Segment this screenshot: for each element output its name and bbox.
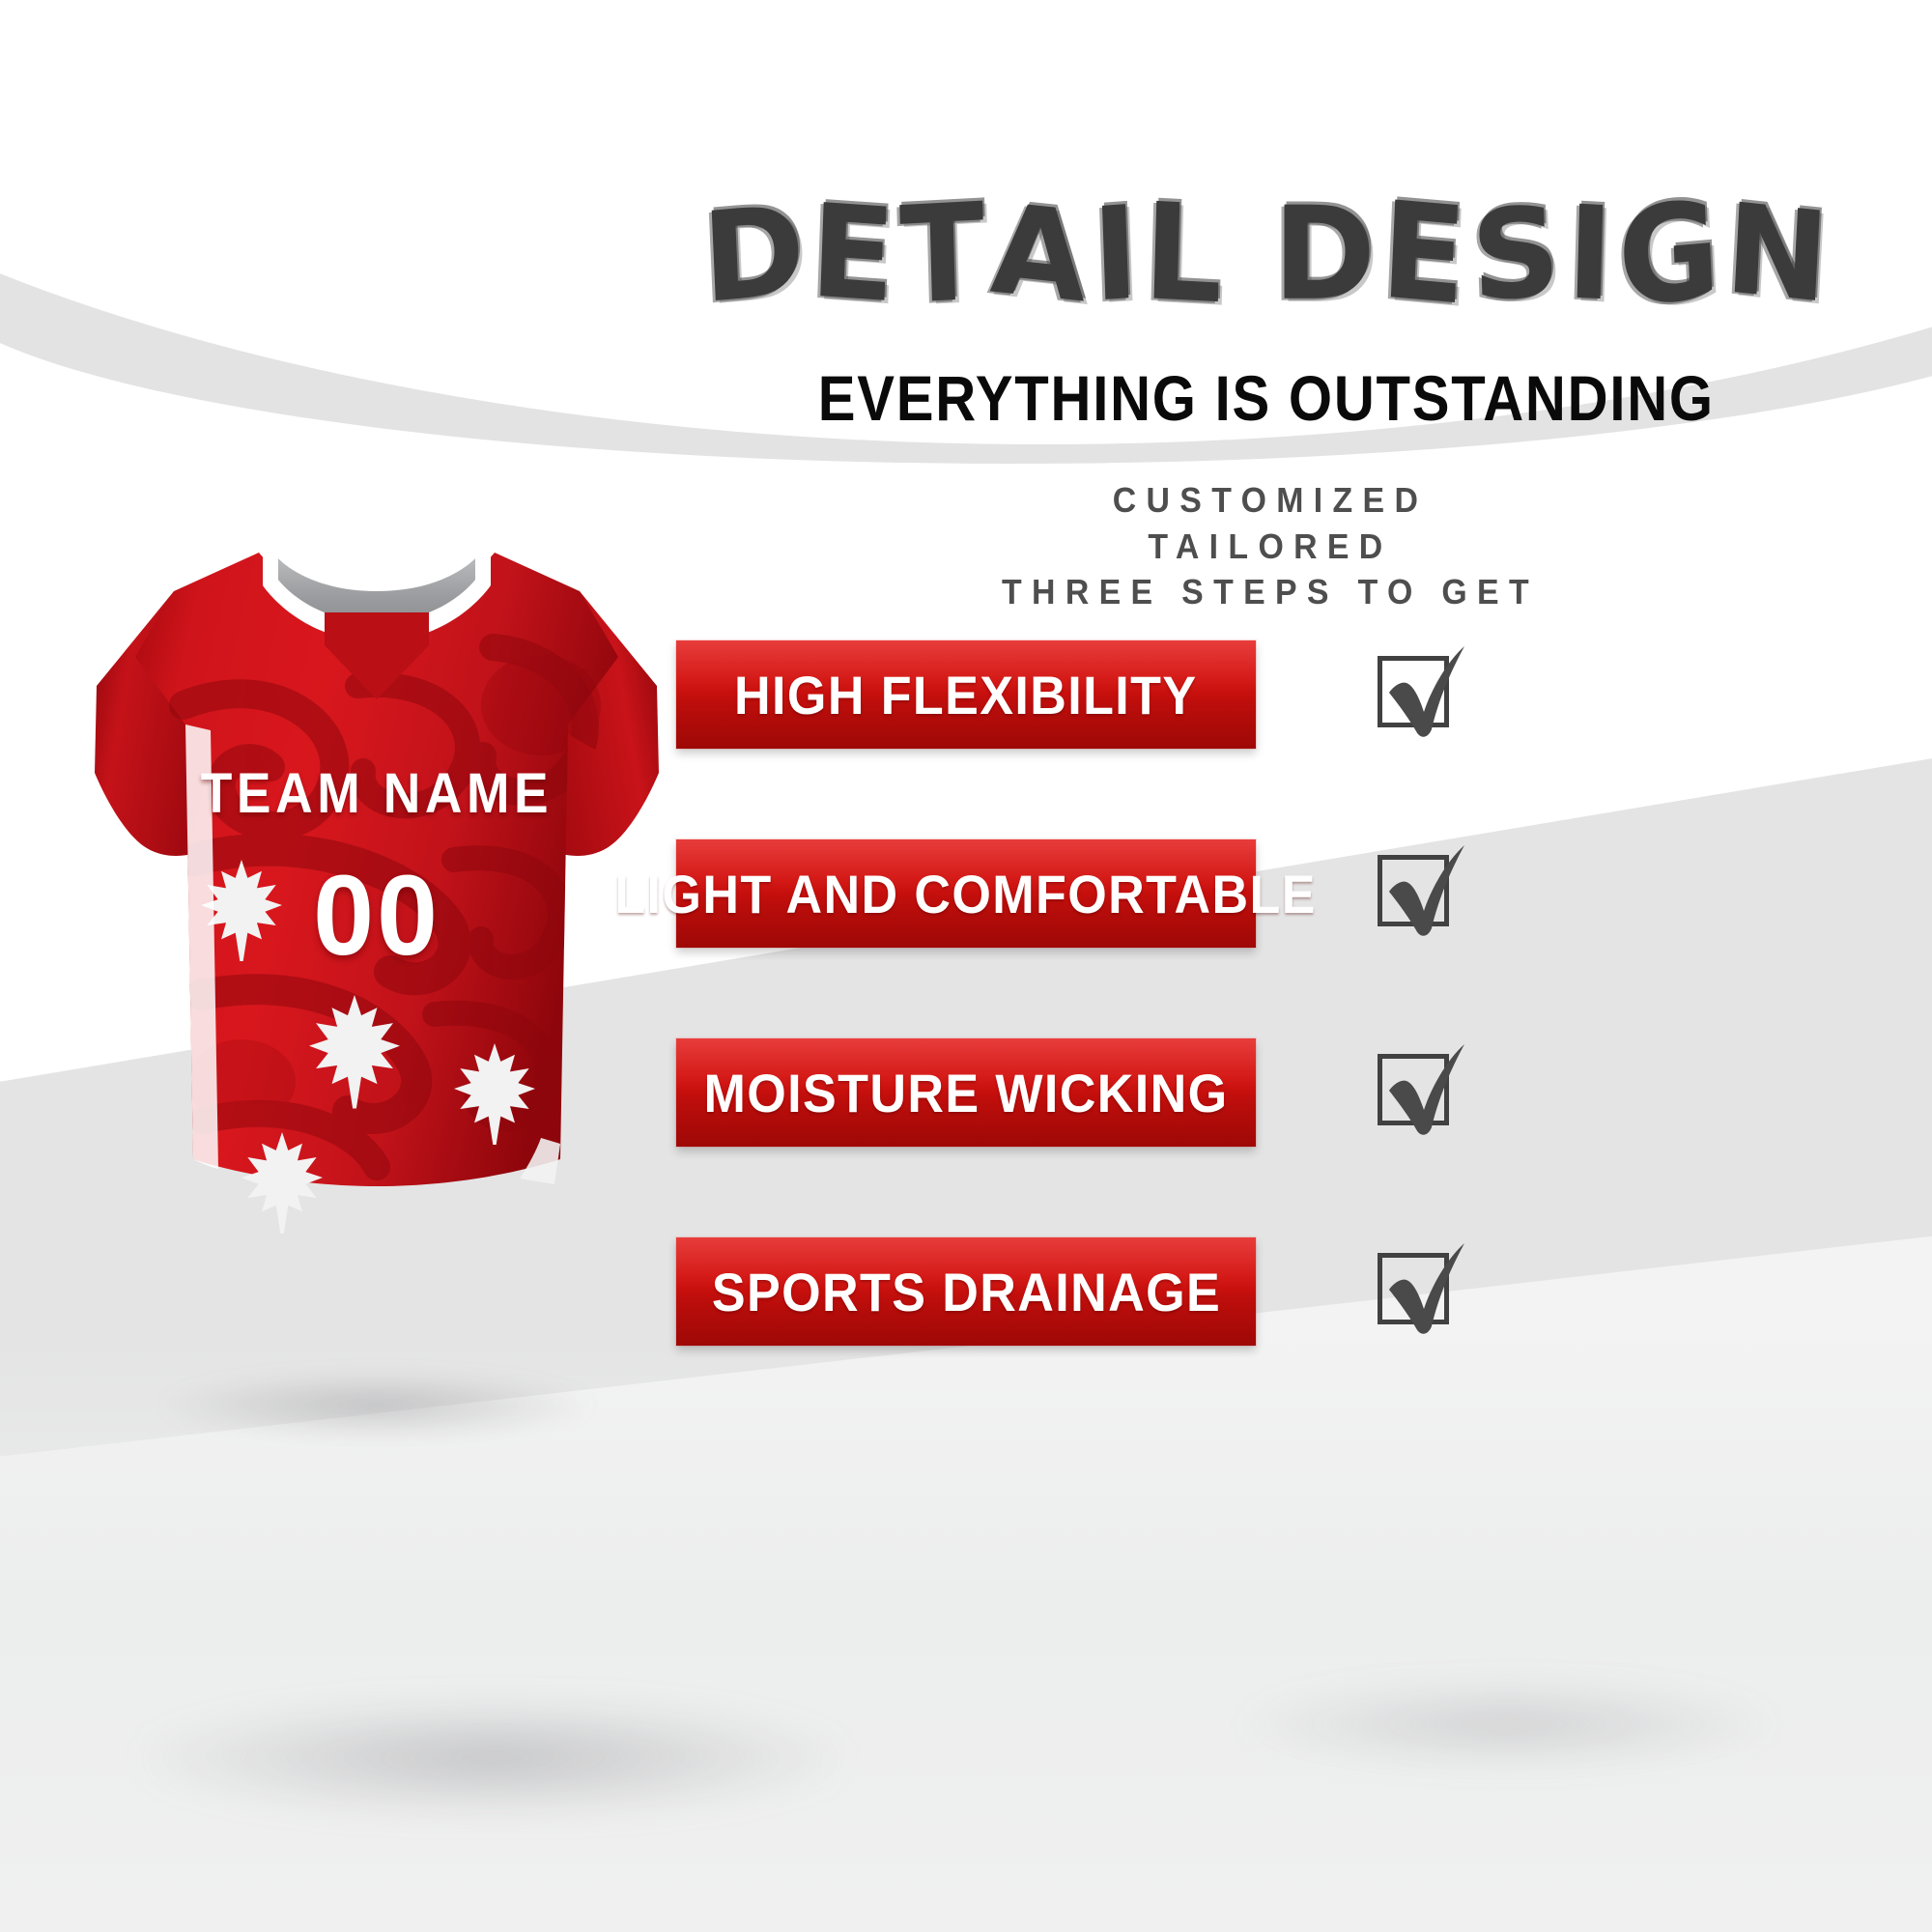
page-subtitle: EVERYTHING IS OUTSTANDING <box>675 361 1798 435</box>
check-mark-icon <box>1364 637 1480 753</box>
floor-shadow-right <box>1236 1681 1777 1768</box>
headline-block: DETAIL DESIGN EVERYTHING IS OUTSTANDING … <box>599 193 1874 615</box>
page-title-wrap: DETAIL DESIGN <box>599 193 1874 317</box>
page-title: DETAIL DESIGN <box>704 193 1837 317</box>
jersey-illustration <box>39 541 715 1507</box>
feature-banner-3[interactable]: MOISTURE WICKING <box>676 1038 1256 1147</box>
checkbox-checked-icon[interactable] <box>1364 836 1480 952</box>
product-jersey: TEAM NAME 00 <box>39 541 715 1507</box>
feature-label: HIGH FLEXIBILITY <box>734 664 1197 726</box>
feature-row: SPORTS DRAINAGE <box>676 1220 1855 1363</box>
feature-label: LIGHT AND COMFORTABLE <box>615 863 1318 925</box>
feature-banner-4[interactable]: SPORTS DRAINAGE <box>676 1237 1256 1346</box>
jersey-team-name-text: TEAM NAME <box>66 761 688 826</box>
checkbox-checked-icon[interactable] <box>1364 637 1480 753</box>
feature-list: HIGH FLEXIBILITYLIGHT AND COMFORTABLEMOI… <box>676 623 1855 1419</box>
feature-row: LIGHT AND COMFORTABLE <box>676 822 1855 965</box>
tagline-line-1: CUSTOMIZED <box>703 477 1838 524</box>
check-mark-icon <box>1364 1234 1480 1350</box>
jersey-number-text: 00 <box>52 850 701 981</box>
feature-label: SPORTS DRAINAGE <box>711 1261 1220 1323</box>
feature-row: HIGH FLEXIBILITY <box>676 623 1855 766</box>
checkbox-checked-icon[interactable] <box>1364 1035 1480 1151</box>
floor-shadow-left <box>145 1700 840 1816</box>
feature-label: MOISTURE WICKING <box>703 1062 1228 1124</box>
feature-banner-1[interactable]: HIGH FLEXIBILITY <box>676 640 1256 749</box>
checkbox-checked-icon[interactable] <box>1364 1234 1480 1350</box>
tagline-block: CUSTOMIZED TAILORED THREE STEPS TO GET <box>599 477 1874 615</box>
check-mark-icon <box>1364 1035 1480 1151</box>
poster-canvas: TEAM NAME 00 DETAIL DESIGN EVERYTHING IS… <box>0 0 1932 1932</box>
check-mark-icon <box>1364 836 1480 952</box>
feature-banner-2[interactable]: LIGHT AND COMFORTABLE <box>676 839 1256 948</box>
tagline-line-3: THREE STEPS TO GET <box>703 569 1838 615</box>
tagline-line-2: TAILORED <box>703 524 1838 570</box>
feature-row: MOISTURE WICKING <box>676 1021 1855 1164</box>
